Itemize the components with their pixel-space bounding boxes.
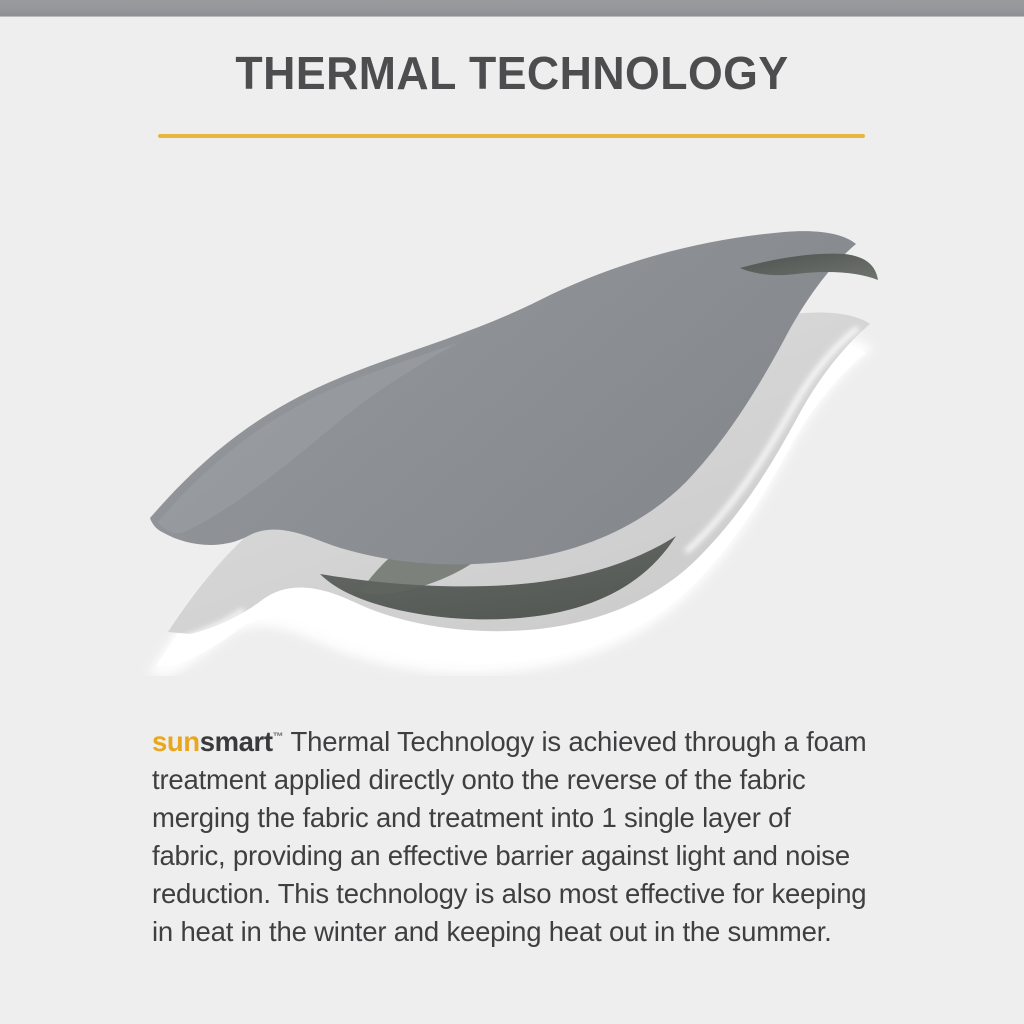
trademark-icon: ™ xyxy=(273,731,284,743)
page-canvas: THERMAL TECHNOLOGY xyxy=(0,18,1024,1024)
title-underline-rule xyxy=(158,134,865,138)
brand-smart-text: smart xyxy=(200,726,273,757)
page-title: THERMAL TECHNOLOGY xyxy=(15,50,1008,96)
window-chrome-band xyxy=(0,0,1024,17)
brand-logotype: sunsmart™ xyxy=(152,726,284,757)
fabric-layers-svg xyxy=(128,196,896,676)
body-paragraph: sunsmart™ Thermal Technology is achieved… xyxy=(152,718,868,951)
body-paragraph-text: Thermal Technology is achieved through a… xyxy=(152,726,867,947)
page-title-block: THERMAL TECHNOLOGY xyxy=(0,50,1024,96)
thermal-fabric-illustration xyxy=(128,196,896,676)
brand-sun-text: sun xyxy=(152,726,200,757)
